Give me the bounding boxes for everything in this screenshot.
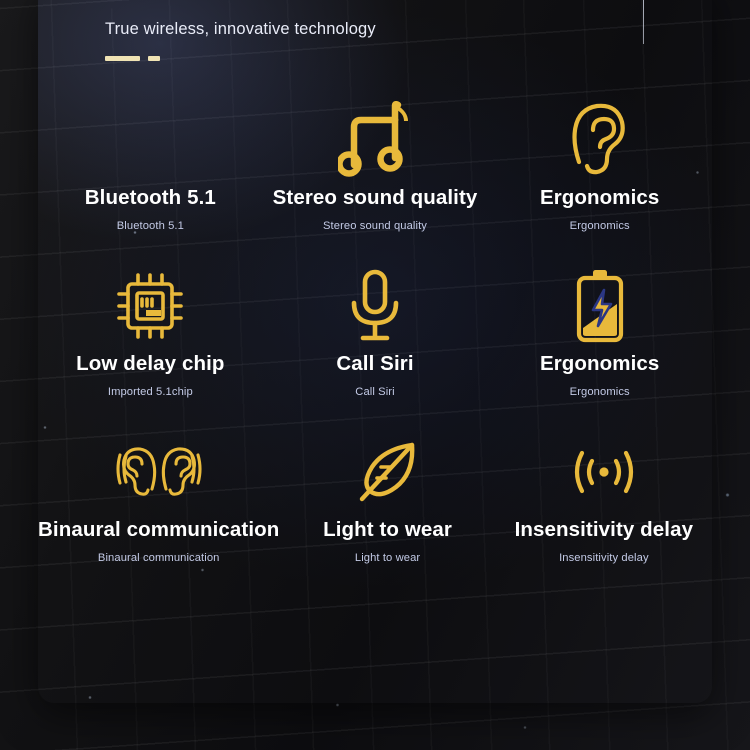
cpu-chip-icon [113,264,187,348]
feature-title: Bluetooth 5.1 [85,186,216,210]
header-accent-dashes [105,56,625,61]
feature-subtitle: Insensitivity delay [559,552,649,564]
feature-subtitle: Imported 5.1chip [108,386,193,398]
feature-title: Call Siri [336,352,413,376]
feature-item-light-to-wear[interactable]: Light to wear Light to wear [279,430,495,564]
feature-item-ergonomics-battery[interactable]: Ergonomics Ergonomics [487,264,712,398]
feature-subtitle: Light to wear [355,552,420,564]
feature-subtitle: Ergonomics [570,386,630,398]
feature-item-low-delay-chip[interactable]: Low delay chip Imported 5.1chip [38,264,263,398]
feature-panel: True wireless, innovative technology Blu… [38,0,712,703]
vertical-rule-icon [643,0,644,44]
feature-title: Binaural communication [38,518,279,542]
feature-title: Insensitivity delay [515,518,694,542]
feature-title: Low delay chip [76,352,224,376]
feature-subtitle: Binaural communication [98,552,220,564]
battery-charging-icon [571,264,629,348]
feature-subtitle: Bluetooth 5.1 [117,220,184,232]
feature-row: Bluetooth 5.1 Bluetooth 5.1 [38,98,712,232]
feature-item-ergonomics-ear[interactable]: Ergonomics Ergonomics [487,98,712,232]
microphone-icon [345,264,405,348]
feature-subtitle: Call Siri [355,386,394,398]
feature-item-insensitivity-delay[interactable]: Insensitivity delay Insensitivity delay [496,430,712,564]
feature-title: Stereo sound quality [273,186,478,210]
feature-title: Ergonomics [540,186,659,210]
feature-row: Low delay chip Imported 5.1chip [38,264,712,398]
page-title: True wireless, innovative technology [105,20,625,39]
binaural-ears-icon [116,430,202,514]
music-notes-icon [338,98,412,182]
feather-icon [356,430,420,514]
signal-waves-icon [567,430,641,514]
feature-item-call-siri[interactable]: Call Siri Call Siri [263,264,488,398]
feature-row: Binaural communication Binaural communic… [38,430,712,564]
feature-subtitle: Ergonomics [570,220,630,232]
accent-dash-long [105,56,140,61]
ear-icon [567,98,633,182]
feature-title: Light to wear [323,518,452,542]
panel-header: True wireless, innovative technology [105,20,625,61]
screenshot-root: True wireless, innovative technology Blu… [0,0,750,750]
feature-subtitle: Stereo sound quality [323,220,427,232]
feature-item-binaural-communication[interactable]: Binaural communication Binaural communic… [38,430,279,564]
feature-item-bluetooth[interactable]: Bluetooth 5.1 Bluetooth 5.1 [38,98,263,232]
feature-title: Ergonomics [540,352,659,376]
accent-dash-short [148,56,160,61]
feature-grid: Bluetooth 5.1 Bluetooth 5.1 [38,98,712,564]
feature-item-stereo-sound[interactable]: Stereo sound quality Stereo sound qualit… [263,98,488,232]
